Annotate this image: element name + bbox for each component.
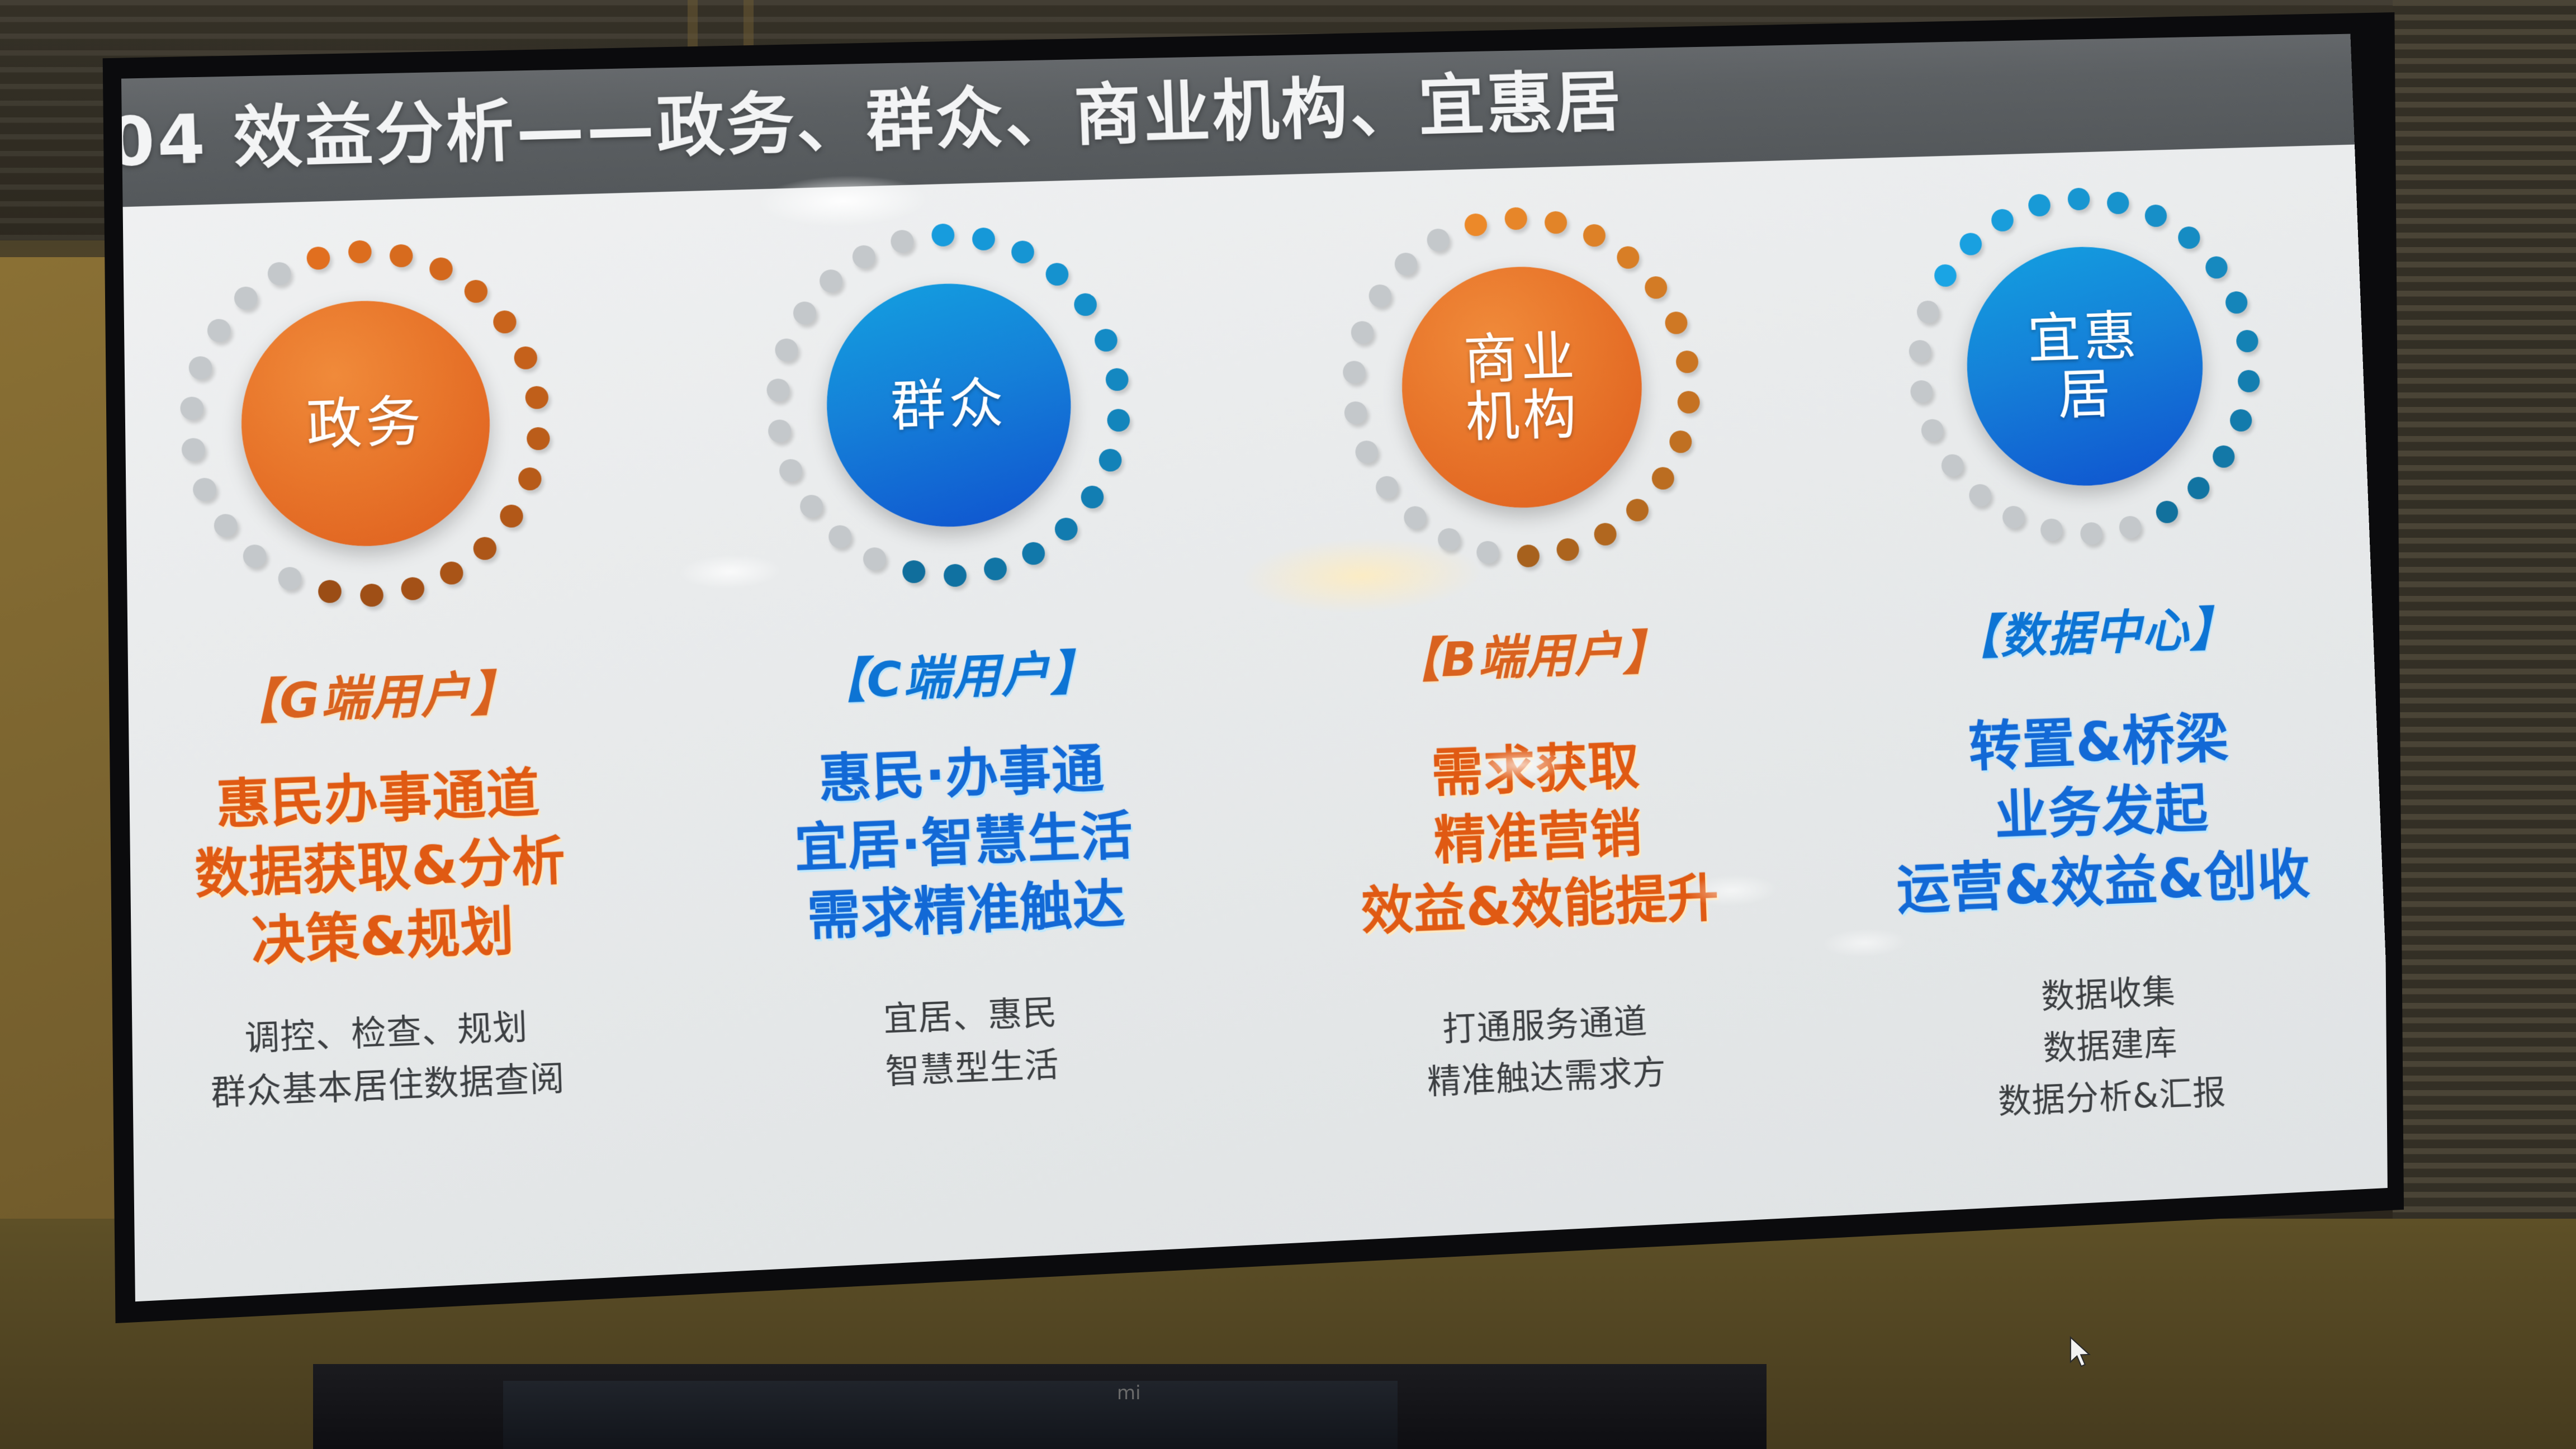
ring-dot	[188, 356, 212, 379]
ring-dot	[1916, 300, 1939, 323]
ring-dot	[234, 287, 258, 310]
ring-dot	[1941, 454, 1964, 477]
ring-dot	[1022, 542, 1045, 565]
ring-dot	[779, 459, 802, 482]
ring-dot	[902, 560, 925, 584]
ring-dot	[1909, 340, 1931, 363]
text-line: 惠民·办事通	[791, 735, 1132, 814]
ring-dot	[1476, 541, 1499, 564]
tag-data-center: 【数据中心】	[1951, 591, 2237, 669]
text-line: 智慧型生活	[884, 1040, 1060, 1099]
ring-dot	[207, 319, 231, 342]
ring-dot	[768, 419, 791, 443]
tag-b-end-user: 【B端用户】	[1391, 614, 1671, 692]
ring-dot	[1427, 229, 1450, 252]
tag-c-end-user: 【C端用户】	[816, 634, 1100, 713]
ring-dot	[2238, 370, 2261, 392]
ring-dot	[181, 438, 205, 461]
bubble-label-1: 政务	[305, 392, 425, 454]
ring-dot	[1645, 276, 1668, 299]
text-line: 需求获取	[1355, 730, 1716, 809]
ring-dot	[1517, 544, 1540, 568]
presentation-slide: 04 效益分析——政务、群众、商业机构、宜惠居 政务 【G端用户】 惠民办事通道…	[78, 12, 2398, 1365]
text-line: 数据分析&汇报	[1997, 1067, 2227, 1128]
ring-dot	[525, 386, 549, 409]
ring-dot	[514, 346, 538, 370]
ring-dot	[1094, 328, 1117, 352]
bubble-label-3: 商业机构	[1462, 328, 1581, 446]
column-government: 政务 【G端用户】 惠民办事通道数据获取&分析决策&规划 调控、检查、规划群众基…	[78, 192, 691, 1365]
tag-g-end-user: 【G端用户】	[228, 654, 521, 733]
bubble-ring-4: 宜惠居	[1902, 183, 2267, 551]
ring-dot	[1626, 498, 1649, 522]
ring-dot	[1355, 441, 1379, 464]
ring-dot	[1934, 264, 1957, 287]
ring-dot	[214, 514, 238, 537]
ring-dot	[1055, 517, 1078, 541]
text-line: 需求精准触达	[796, 870, 1137, 950]
ring-dot	[1107, 409, 1130, 432]
ring-dot	[793, 301, 816, 325]
text-line: 效益&效能提升	[1360, 865, 1721, 945]
ring-dot	[1669, 430, 1692, 453]
ring-dot	[493, 310, 517, 333]
text-line: 机构	[1465, 385, 1581, 446]
ring-dot	[1394, 253, 1418, 276]
ring-dot	[766, 378, 789, 402]
ring-dot	[2080, 522, 2103, 545]
column-business: 商业机构 【B端用户】 需求获取精准营销效益&效能提升 打通服务通道精准触达需求…	[1229, 160, 1839, 1317]
notes-4: 数据收集数据建库数据分析&汇报	[1993, 964, 2227, 1129]
ring-dot	[775, 338, 798, 362]
ring-dot	[972, 227, 996, 250]
ring-dot	[1081, 486, 1104, 509]
text-line: 数据收集	[1993, 965, 2223, 1025]
ring-dot	[852, 245, 875, 269]
text-line: 惠民办事通道	[191, 759, 564, 840]
ring-dot	[2236, 330, 2259, 353]
ring-dot	[527, 427, 551, 451]
ring-dot	[799, 495, 823, 518]
ring-dot	[1045, 263, 1069, 286]
ring-dot	[518, 467, 542, 491]
ring-dot	[2229, 409, 2252, 432]
ring-dot	[318, 580, 342, 603]
ring-dot	[1375, 476, 1399, 499]
text-line: 数据建库	[1995, 1016, 2225, 1076]
ring-dot	[1011, 240, 1034, 264]
ring-dot	[267, 262, 291, 286]
ring-dot	[390, 244, 414, 267]
ring-dot	[1968, 484, 1991, 506]
ring-dot	[1583, 224, 1606, 247]
ring-dot	[1342, 361, 1366, 384]
ring-dot	[1545, 211, 1568, 234]
ring-dot	[1676, 350, 1699, 373]
ring-dot	[1910, 380, 1933, 403]
ring-dot	[2144, 205, 2167, 228]
bubble-label-2: 群众	[889, 375, 1008, 436]
ring-dot	[2067, 188, 2090, 211]
text-line: 数据获取&分析	[194, 827, 567, 908]
ring-dot	[931, 224, 954, 247]
tv-screen: 04 效益分析——政务、群众、商业机构、宜惠居 政务 【G端用户】 惠民办事通道…	[78, 12, 2404, 1365]
ring-dot	[1403, 505, 1427, 529]
ring-dot	[1921, 419, 1944, 442]
television: 04 效益分析——政务、群众、商业机构、宜惠居 政务 【G端用户】 惠民办事通道…	[78, 12, 2404, 1365]
ring-dot	[278, 566, 302, 590]
ring-dot	[348, 240, 372, 263]
ring-dot	[2156, 500, 2179, 523]
ring-dot	[1351, 320, 1374, 344]
mi-brand-logo: mi	[1117, 1382, 1137, 1404]
headline-4: 转置&桥梁业务发起运营&效益&创收	[1890, 699, 2312, 925]
text-line: 宜惠	[2026, 308, 2141, 368]
ring-dot	[192, 478, 216, 501]
ring-dot	[1368, 284, 1391, 307]
headline-2: 惠民·办事通宜居·智慧生活需求精准触达	[791, 733, 1137, 951]
ring-dot	[2040, 518, 2063, 541]
bubble-ring-1: 政务	[173, 235, 557, 613]
headline-3: 需求获取精准营销效益&效能提升	[1355, 729, 1721, 946]
ring-dot	[2178, 226, 2201, 249]
ring-dot	[1074, 293, 1097, 316]
notes-2: 宜居、惠民智慧型生活	[883, 987, 1060, 1099]
ring-dot	[890, 230, 913, 253]
ring-dot	[2205, 256, 2228, 279]
mouse-cursor	[2068, 1336, 2094, 1371]
tv-stand-panel	[503, 1381, 1398, 1449]
ring-dot	[179, 396, 203, 420]
ring-dot	[464, 280, 488, 304]
ring-dot	[1556, 538, 1579, 562]
ring-dot	[429, 257, 453, 281]
ring-dot	[1504, 207, 1527, 230]
ring-dot	[401, 577, 425, 600]
slide-columns: 政务 【G端用户】 惠民办事通道数据获取&分析决策&规划 调控、检查、规划群众基…	[78, 145, 2398, 1365]
column-public: 群众 【C端用户】 惠民·办事通宜居·智慧生活需求精准触达 宜居、惠民智慧型生活	[651, 176, 1270, 1343]
ring-dot	[1594, 522, 1617, 546]
notes-3: 打通服务通道精准触达需求方	[1424, 995, 1668, 1110]
text-line: 决策&规划	[196, 896, 570, 978]
bubble-ring-3: 商业机构	[1336, 202, 1707, 574]
ring-dot	[1464, 213, 1488, 236]
ring-dot	[819, 269, 842, 293]
ring-dot	[1437, 528, 1461, 551]
ring-dot	[1098, 449, 1122, 472]
ring-dot	[1959, 233, 1982, 255]
ring-dot	[2225, 291, 2248, 314]
text-line: 宜居、惠民	[883, 987, 1058, 1046]
ring-dot	[2002, 505, 2025, 528]
notes-1: 调控、检查、规划群众基本居住数据查阅	[208, 1000, 566, 1120]
ring-dot	[1344, 401, 1367, 425]
ring-dot	[943, 563, 967, 587]
ring-dot	[500, 505, 524, 528]
ring-dot	[243, 544, 267, 567]
ring-dot	[439, 561, 463, 585]
ring-dot	[473, 536, 497, 560]
text-line: 精准营销	[1358, 797, 1718, 877]
headline-1: 惠民办事通道数据获取&分析决策&规划	[191, 757, 569, 979]
text-line: 宜居·智慧生活	[793, 802, 1134, 882]
text-line: 居	[2029, 364, 2143, 425]
ring-dot	[984, 557, 1007, 581]
ring-dot	[1617, 246, 1640, 269]
ring-dot	[2107, 191, 2130, 214]
ring-dot	[2213, 446, 2236, 468]
ring-dot	[1652, 467, 1675, 490]
ring-dot	[863, 547, 886, 570]
ring-dot	[2187, 476, 2210, 499]
ring-dot	[1991, 209, 2014, 232]
ring-dot	[2028, 193, 2051, 216]
text-line: 精准触达需求方	[1427, 1048, 1668, 1109]
ring-dot	[1665, 311, 1688, 334]
ring-dot	[306, 246, 330, 269]
ring-dot	[359, 584, 383, 607]
bubble-label-4: 宜惠居	[2026, 308, 2143, 425]
text-line: 商业	[1462, 328, 1579, 389]
text-line: 打通服务通道	[1424, 996, 1665, 1057]
ring-dot	[1677, 391, 1700, 414]
column-datacenter: 宜惠居 【数据中心】 转置&桥梁业务发起运营&效益&创收 数据收集数据建库数据分…	[1797, 145, 2398, 1291]
ring-dot	[2119, 516, 2142, 539]
bubble-ring-2: 群众	[760, 219, 1137, 593]
ring-dot	[1106, 368, 1129, 391]
ring-dot	[828, 524, 851, 548]
text-line: 运营&效益&创收	[1896, 840, 2312, 925]
